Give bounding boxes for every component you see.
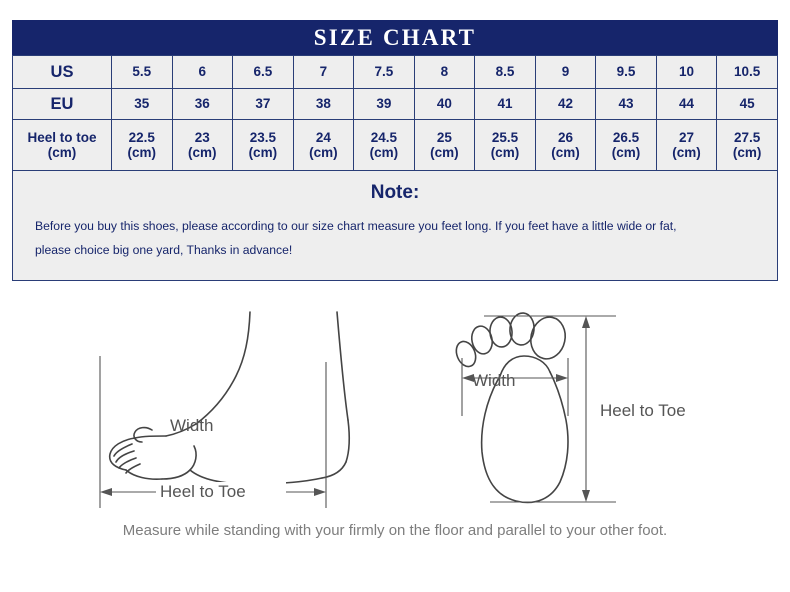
note-line-1: Before you buy this shoes, please accord… — [35, 214, 755, 238]
size-chart-header: SIZE CHART — [12, 20, 778, 55]
size-chart-block: SIZE CHART US 5.5 6 6.5 7 7.5 8 8.5 9 9.… — [12, 20, 778, 281]
cell-len-2-value: 23.5 — [233, 130, 293, 145]
row-header-heel-to-toe-line2: (cm) — [48, 145, 77, 160]
cell-us-9: 10 — [656, 56, 717, 89]
cell-eu-7: 42 — [535, 89, 596, 120]
size-chart-page: SIZE CHART US 5.5 6 6.5 7 7.5 8 8.5 9 9.… — [0, 0, 790, 592]
cell-len-6: 25.5 (cm) — [475, 120, 536, 171]
cell-len-0-value: 22.5 — [112, 130, 172, 145]
cell-us-8: 9.5 — [596, 56, 657, 89]
table-row-heel-to-toe: Heel to toe (cm) 22.5 (cm) 23 (cm) 23.5 … — [13, 120, 778, 171]
cell-len-4: 24.5 (cm) — [354, 120, 415, 171]
foot-sole-view-icon — [440, 296, 740, 521]
cell-len-5-value: 25 — [415, 130, 475, 145]
cell-len-3-value: 24 — [294, 130, 354, 145]
sole-view-width-label: Width — [472, 371, 515, 391]
note-section: Note: Before you buy this shoes, please … — [12, 171, 778, 281]
cell-len-7-unit: (cm) — [536, 145, 596, 160]
cell-len-10-unit: (cm) — [717, 145, 777, 160]
cell-len-0-unit: (cm) — [112, 145, 172, 160]
cell-eu-5: 40 — [414, 89, 475, 120]
toe-5 — [453, 339, 479, 370]
cell-eu-1: 36 — [172, 89, 233, 120]
table-row-us: US 5.5 6 6.5 7 7.5 8 8.5 9 9.5 10 10.5 — [13, 56, 778, 89]
table-row-eu: EU 35 36 37 38 39 40 41 42 43 44 45 — [13, 89, 778, 120]
cell-len-7: 26 (cm) — [535, 120, 596, 171]
foot-sole-view-diagram: Width Heel to Toe — [440, 296, 740, 521]
note-line-2: please choice big one yard, Thanks in ad… — [35, 238, 755, 262]
side-arrow-left-icon — [100, 488, 112, 496]
cell-eu-6: 41 — [475, 89, 536, 120]
row-header-heel-to-toe: Heel to toe (cm) — [13, 120, 112, 171]
side-view-width-label: Width — [170, 416, 213, 436]
cell-len-4-value: 24.5 — [354, 130, 414, 145]
row-header-us: US — [13, 56, 112, 89]
cell-len-10-value: 27.5 — [717, 130, 777, 145]
foot-side-view-diagram: Width Heel to Toe — [78, 296, 378, 521]
cell-us-5: 8 — [414, 56, 475, 89]
cell-us-7: 9 — [535, 56, 596, 89]
cell-len-8-unit: (cm) — [596, 145, 656, 160]
cell-len-5-unit: (cm) — [415, 145, 475, 160]
sole-arrow-up-icon — [582, 316, 590, 328]
cell-len-2-unit: (cm) — [233, 145, 293, 160]
cell-len-0: 22.5 (cm) — [112, 120, 173, 171]
cell-len-1-unit: (cm) — [173, 145, 233, 160]
cell-eu-2: 37 — [233, 89, 294, 120]
cell-len-8: 26.5 (cm) — [596, 120, 657, 171]
row-header-eu: EU — [13, 89, 112, 120]
cell-eu-3: 38 — [293, 89, 354, 120]
cell-us-4: 7.5 — [354, 56, 415, 89]
measurement-caption: Measure while standing with your firmly … — [0, 522, 790, 539]
row-header-heel-to-toe-line1: Heel to toe — [27, 130, 96, 145]
cell-len-6-unit: (cm) — [475, 145, 535, 160]
cell-us-0: 5.5 — [112, 56, 173, 89]
side-view-length-label: Heel to Toe — [160, 482, 246, 502]
cell-len-9-value: 27 — [657, 130, 717, 145]
cell-len-7-value: 26 — [536, 130, 596, 145]
sole-arrow-right-icon — [556, 374, 568, 382]
cell-eu-8: 43 — [596, 89, 657, 120]
cell-len-8-value: 26.5 — [596, 130, 656, 145]
cell-eu-4: 39 — [354, 89, 415, 120]
cell-len-4-unit: (cm) — [354, 145, 414, 160]
cell-us-2: 6.5 — [233, 56, 294, 89]
sole-arrow-down-icon — [582, 490, 590, 502]
note-body: Before you buy this shoes, please accord… — [13, 202, 777, 263]
cell-len-5: 25 (cm) — [414, 120, 475, 171]
cell-len-10: 27.5 (cm) — [717, 120, 778, 171]
cell-len-3-unit: (cm) — [294, 145, 354, 160]
cell-us-3: 7 — [293, 56, 354, 89]
sole-view-length-label: Heel to Toe — [600, 401, 686, 421]
cell-len-6-value: 25.5 — [475, 130, 535, 145]
cell-eu-0: 35 — [112, 89, 173, 120]
cell-len-1: 23 (cm) — [172, 120, 233, 171]
side-arrow-right-icon — [314, 488, 326, 496]
cell-us-6: 8.5 — [475, 56, 536, 89]
cell-len-2: 23.5 (cm) — [233, 120, 294, 171]
page-title: SIZE CHART — [314, 26, 476, 49]
cell-len-1-value: 23 — [173, 130, 233, 145]
size-table: US 5.5 6 6.5 7 7.5 8 8.5 9 9.5 10 10.5 E… — [12, 55, 778, 171]
cell-len-3: 24 (cm) — [293, 120, 354, 171]
foot-measurement-diagrams: Width Heel to Toe — [0, 296, 790, 521]
cell-eu-10: 45 — [717, 89, 778, 120]
cell-len-9-unit: (cm) — [657, 145, 717, 160]
cell-len-9: 27 (cm) — [656, 120, 717, 171]
cell-eu-9: 44 — [656, 89, 717, 120]
note-title: Note: — [13, 171, 777, 202]
cell-us-1: 6 — [172, 56, 233, 89]
cell-us-10: 10.5 — [717, 56, 778, 89]
